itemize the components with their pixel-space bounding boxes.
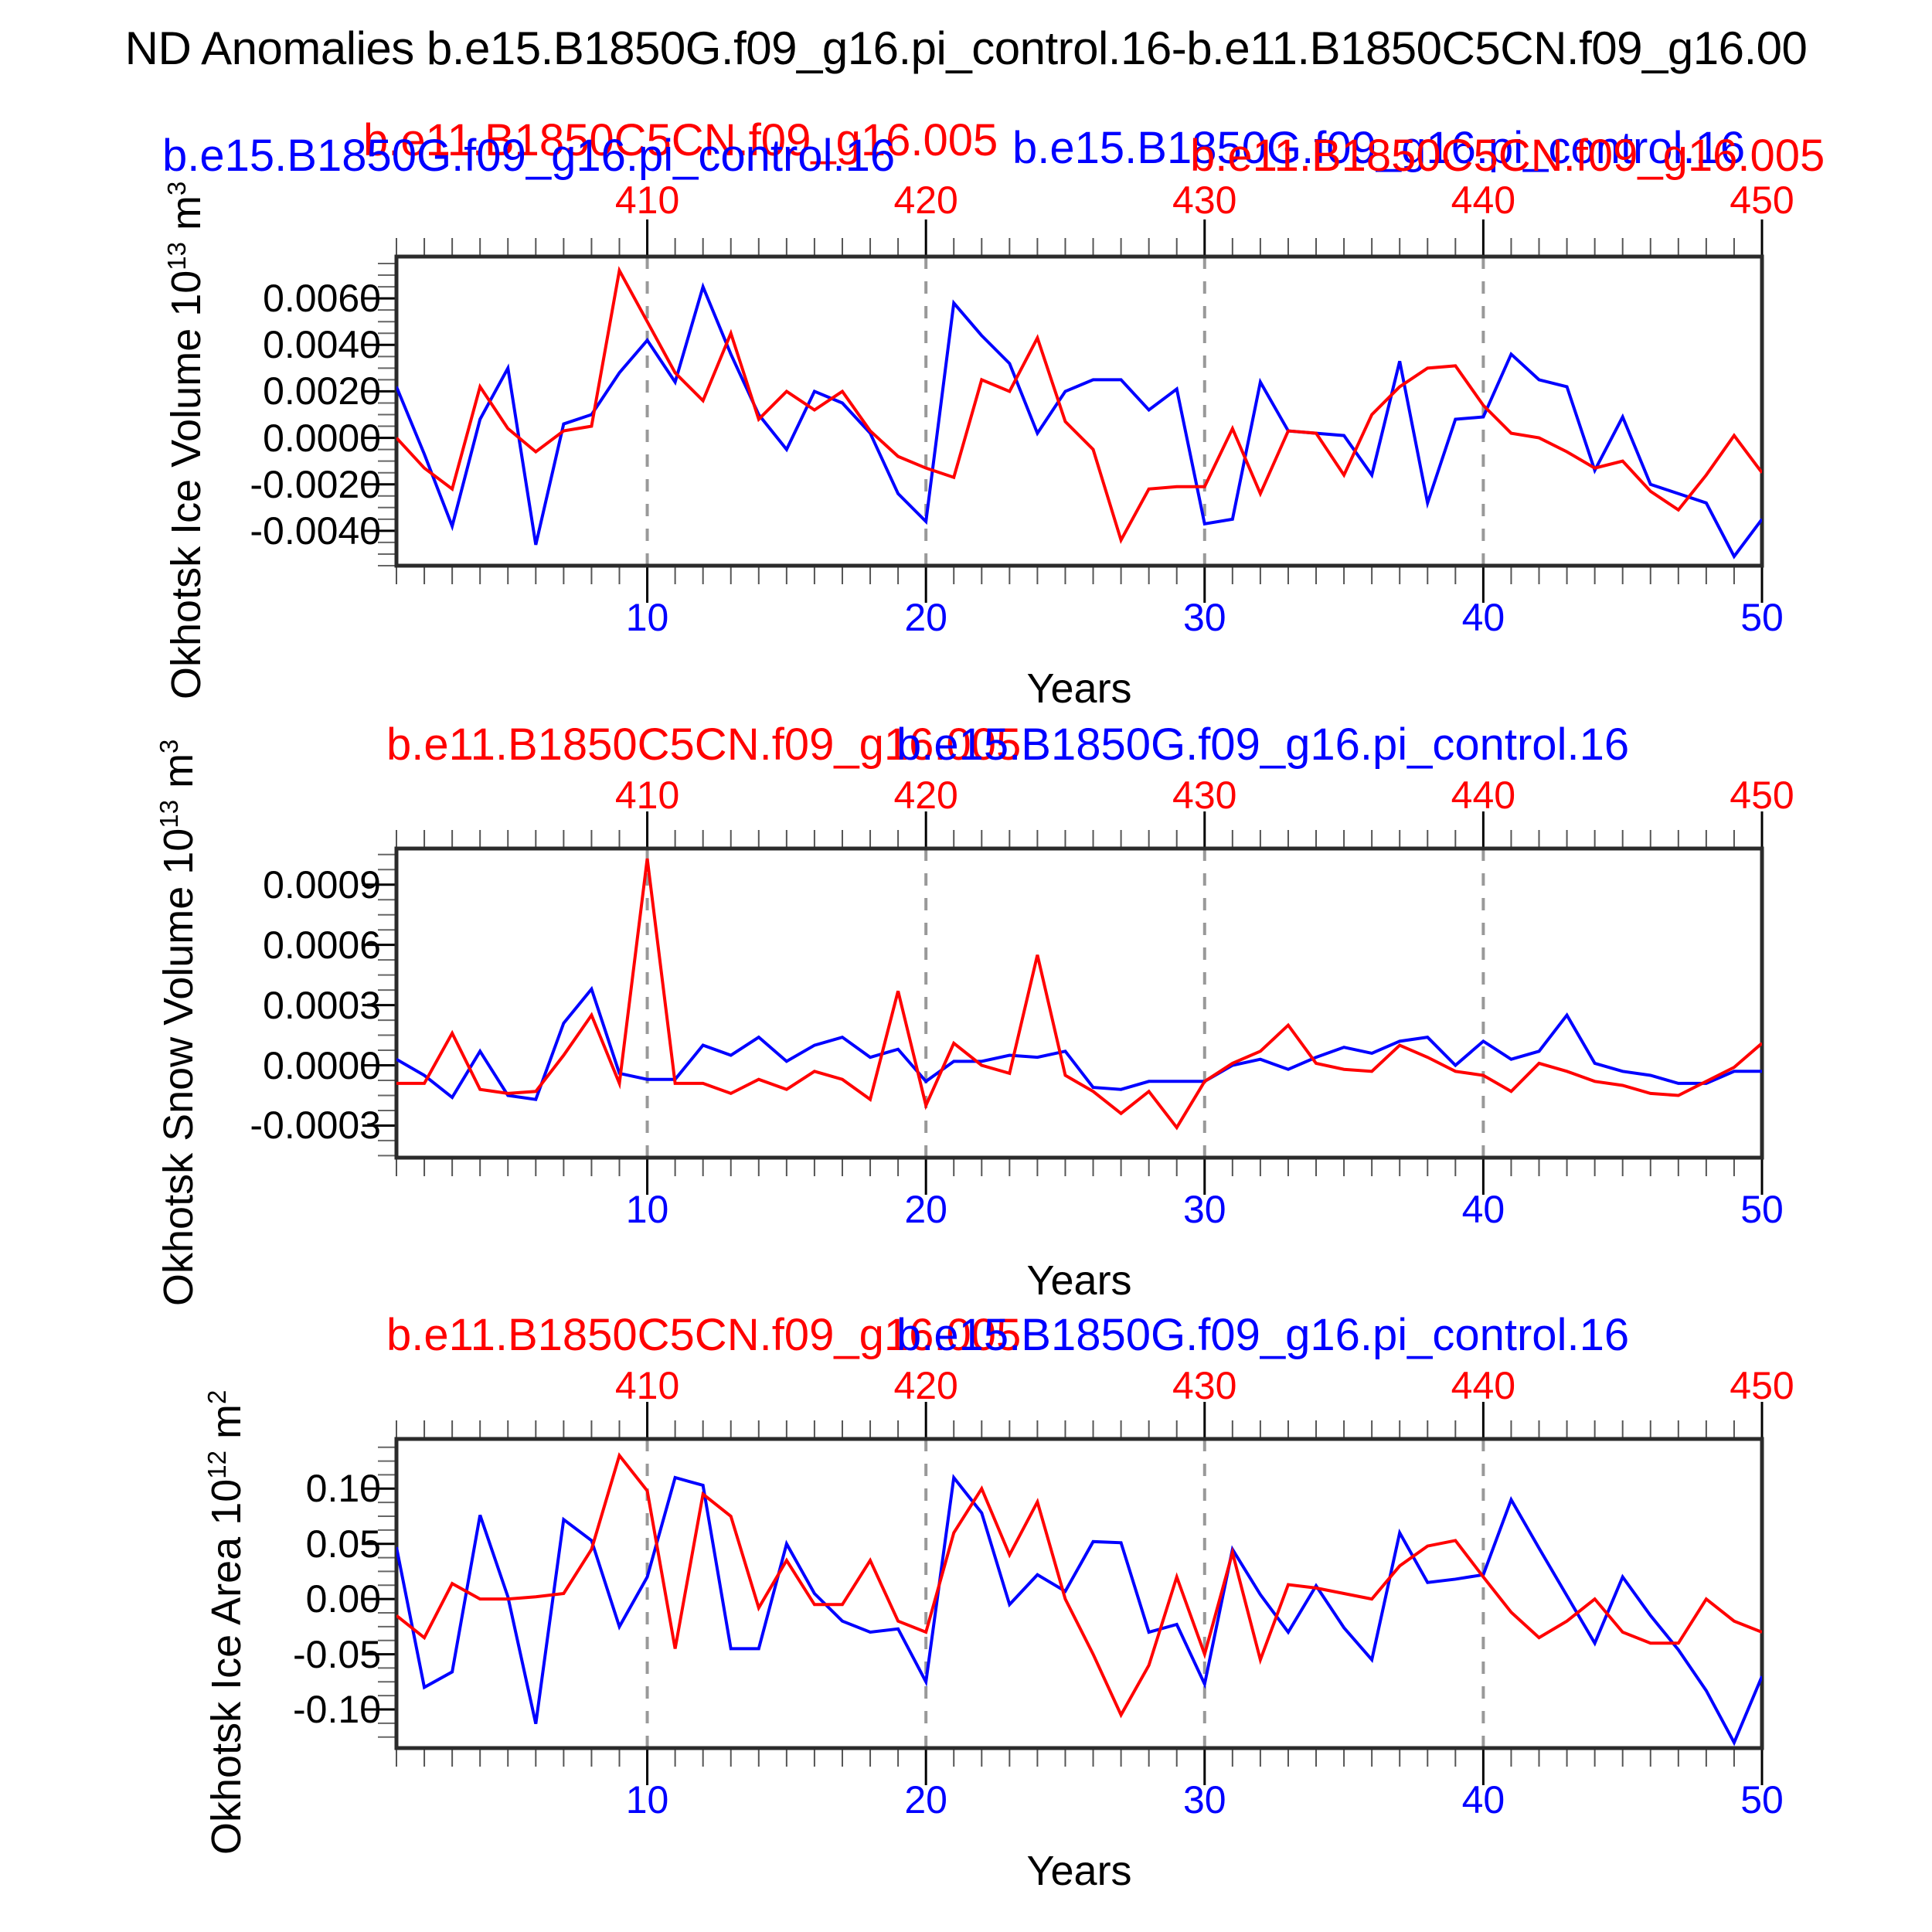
x-axis-label-1: Years bbox=[1026, 665, 1131, 713]
legend-label-blue-left: b.e15.B1850G.f09_g16.pi_control.16 bbox=[162, 130, 895, 182]
series-line-red bbox=[396, 270, 1762, 540]
plot-frame bbox=[396, 257, 1762, 566]
series-line-red bbox=[396, 859, 1762, 1128]
plot-area-1 bbox=[0, 202, 1932, 620]
plot-area-3 bbox=[0, 1385, 1932, 1802]
plot-frame bbox=[396, 1439, 1762, 1748]
plot-area-2 bbox=[0, 794, 1932, 1212]
plot-frame bbox=[396, 849, 1762, 1158]
series-line-red bbox=[396, 1455, 1762, 1715]
series-line-blue bbox=[396, 287, 1762, 556]
legend-label-blue: b.e15.B1850G.f09_g16.pi_control.16 bbox=[896, 1309, 1629, 1361]
legend-label-red-right: b.e11.B1850C5CN.f09_g16.005 bbox=[1190, 130, 1825, 182]
x-axis-label-3: Years bbox=[1026, 1847, 1131, 1895]
legend-label-blue: b.e15.B1850G.f09_g16.pi_control.16 bbox=[896, 719, 1629, 770]
page-title: ND Anomalies b.e15.B1850G.f09_g16.pi_con… bbox=[0, 22, 1932, 75]
figure-canvas: ND Anomalies b.e15.B1850G.f09_g16.pi_con… bbox=[0, 0, 1932, 1932]
x-axis-label-2: Years bbox=[1026, 1257, 1131, 1304]
